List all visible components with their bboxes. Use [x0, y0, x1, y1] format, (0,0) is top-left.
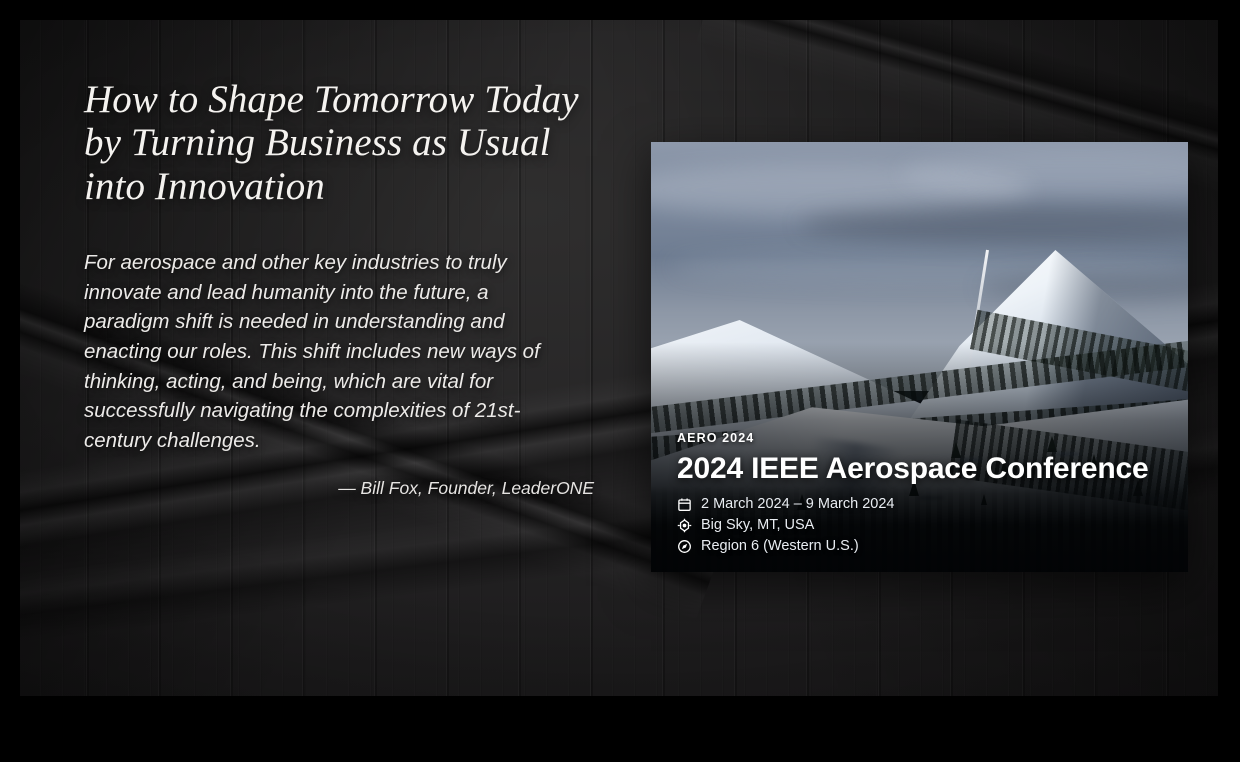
- slide-body-paragraph: For aerospace and other key industries t…: [84, 248, 576, 456]
- card-eyebrow-label: AERO 2024: [677, 431, 1168, 445]
- card-meta-dates: 2 March 2024 – 9 March 2024: [677, 496, 1168, 512]
- card-heading: 2024 IEEE Aerospace Conference: [677, 452, 1168, 485]
- card-meta-region-text: Region 6 (Western U.S.): [701, 538, 859, 554]
- conference-card[interactable]: AERO 2024 2024 IEEE Aerospace Conference: [651, 142, 1188, 572]
- compass-icon: [677, 539, 692, 554]
- slide-attribution: — Bill Fox, Founder, LeaderONE: [84, 478, 594, 499]
- slide-title: How to Shape Tomorrow Today by Turning B…: [84, 78, 604, 208]
- conference-card-text: AERO 2024 2024 IEEE Aerospace Conference: [677, 431, 1168, 554]
- card-meta-location: Big Sky, MT, USA: [677, 517, 1168, 533]
- card-meta-list: 2 March 2024 – 9 March 2024: [677, 496, 1168, 554]
- location-pin-icon: [677, 518, 692, 533]
- card-meta-location-text: Big Sky, MT, USA: [701, 517, 814, 533]
- presentation-slide: How to Shape Tomorrow Today by Turning B…: [20, 20, 1218, 696]
- calendar-icon: [677, 497, 692, 512]
- card-meta-region: Region 6 (Western U.S.): [677, 538, 1168, 554]
- slide-text-column: How to Shape Tomorrow Today by Turning B…: [84, 78, 634, 499]
- card-meta-dates-text: 2 March 2024 – 9 March 2024: [701, 496, 894, 512]
- slide-viewport: How to Shape Tomorrow Today by Turning B…: [0, 0, 1240, 762]
